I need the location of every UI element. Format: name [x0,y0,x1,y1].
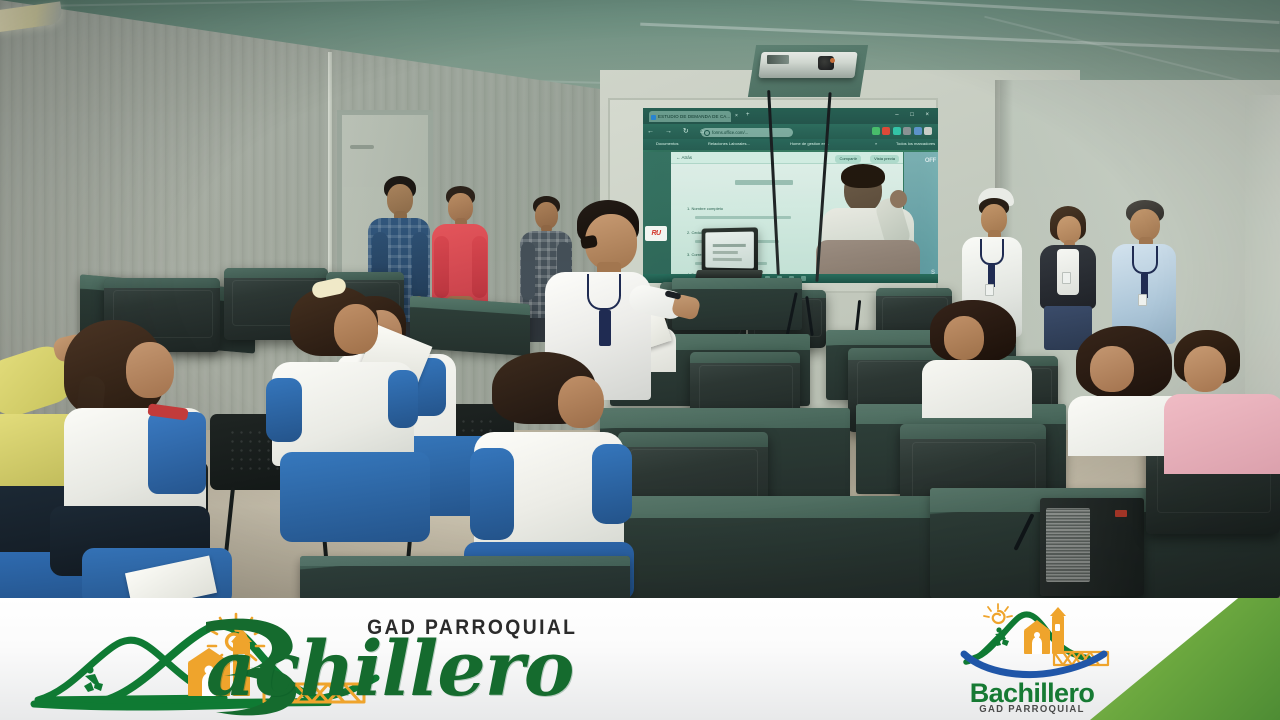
bookmark-item[interactable]: Home de gestion en... [783,141,829,146]
tab-close-icon[interactable]: × [735,113,738,119]
screenshot-root: ESTUDIO DE DEMANDA DE CA... × + – □ × ← … [0,0,1280,720]
runner-figure-icon [84,666,103,692]
projector-indicator-led [830,58,835,63]
bookmark-item[interactable]: Relaciones Laborales... [701,141,750,146]
staff-id-badge [1062,272,1071,284]
bachillero-seal: Bachillero GAD PARROQUIAL [952,604,1112,716]
all-bookmarks-item[interactable]: Todos los marcadores [889,141,935,146]
document-toolbar: ← Atrás Compartir Vista previa [671,152,903,164]
logo-wordmark: achillero [206,624,573,713]
bookmarks-overflow[interactable]: » [875,141,877,146]
bookmark-label: Home de gestion en... [790,141,829,146]
share-button[interactable]: Compartir [835,155,861,163]
bookmark-label: Relaciones Laborales... [708,141,750,146]
screen-right-logo: OFF [925,158,936,164]
browser-toolbar: ← → ↻ ⌂ forms.office.com/... [643,124,938,139]
seal-subtitle: GAD PARROQUIAL [956,704,1108,715]
bookmark-item[interactable]: Documentos [649,141,678,146]
student-pink-top [1164,394,1280,474]
student-uniform-sleeve [388,370,418,428]
extension-icon[interactable] [914,127,922,135]
extension-icons[interactable] [872,127,933,135]
extension-icon[interactable] [893,127,901,135]
nav-icons[interactable]: ← → ↻ ⌂ [647,127,708,135]
green-wedge-decoration [1090,598,1280,720]
foreground-desk [300,556,630,598]
staff-id-badge [1138,294,1147,306]
extension-icon[interactable] [872,127,880,135]
projector-vent [767,55,789,64]
projected-person [818,168,918,283]
student-uniform-sleeve [592,444,632,524]
door-handle [350,145,374,149]
preview-button[interactable]: Vista previa [870,155,899,163]
staff-id-badge [985,284,994,296]
browser-tab[interactable]: ESTUDIO DE DEMANDA DE CA... [649,111,731,122]
back-button[interactable]: ← Atrás [676,155,692,160]
all-bookmarks-label: Todos los marcadores [896,141,935,146]
window-controls[interactable]: – □ × [895,112,934,118]
student-right-pink [1170,330,1280,470]
student-front-left [30,320,206,598]
projected-screen: ESTUDIO DE DEMANDA DE CA... × + – □ × ← … [643,108,938,283]
footer-banner: GAD PARROQUIAL achillero [0,598,1280,720]
extension-icon[interactable] [903,127,911,135]
extension-icon[interactable] [882,127,890,135]
new-tab-icon[interactable]: + [746,112,750,118]
bookmark-label: Documentos [656,141,678,146]
gad-parroquial-bachillero-logo: GAD PARROQUIAL achillero [28,602,628,718]
form-question: 1. Nombre completo [687,206,723,211]
bookmarks-bar: Documentos Relaciones Laborales... Home … [643,139,938,150]
address-bar[interactable]: forms.office.com/... [701,128,793,137]
laptop-screen [702,227,758,272]
bachillero-seal-emblem-icon [952,602,1112,680]
projected-person-hand [890,190,907,208]
student-uniform-sleeve [266,378,302,442]
pc-tower [1040,498,1144,596]
student-center-left [238,286,416,588]
student-uniform-pants [280,452,430,542]
classroom-photo: ESTUDIO DE DEMANDA DE CA... × + – □ × ← … [0,0,1280,598]
presenter-lanyard [587,274,621,310]
student-mid-right [920,300,1050,410]
computer-desk [608,496,938,598]
projected-person-hair [841,164,885,188]
wall-conduit [328,52,332,292]
student-uniform-sleeve [470,448,514,540]
profile-avatar-icon[interactable] [924,127,932,135]
browser-tabstrip: ESTUDIO DE DEMANDA DE CA... × + – □ × [643,108,938,124]
student-uniform-sleeve [148,412,206,494]
form-title-placeholder [735,180,793,185]
